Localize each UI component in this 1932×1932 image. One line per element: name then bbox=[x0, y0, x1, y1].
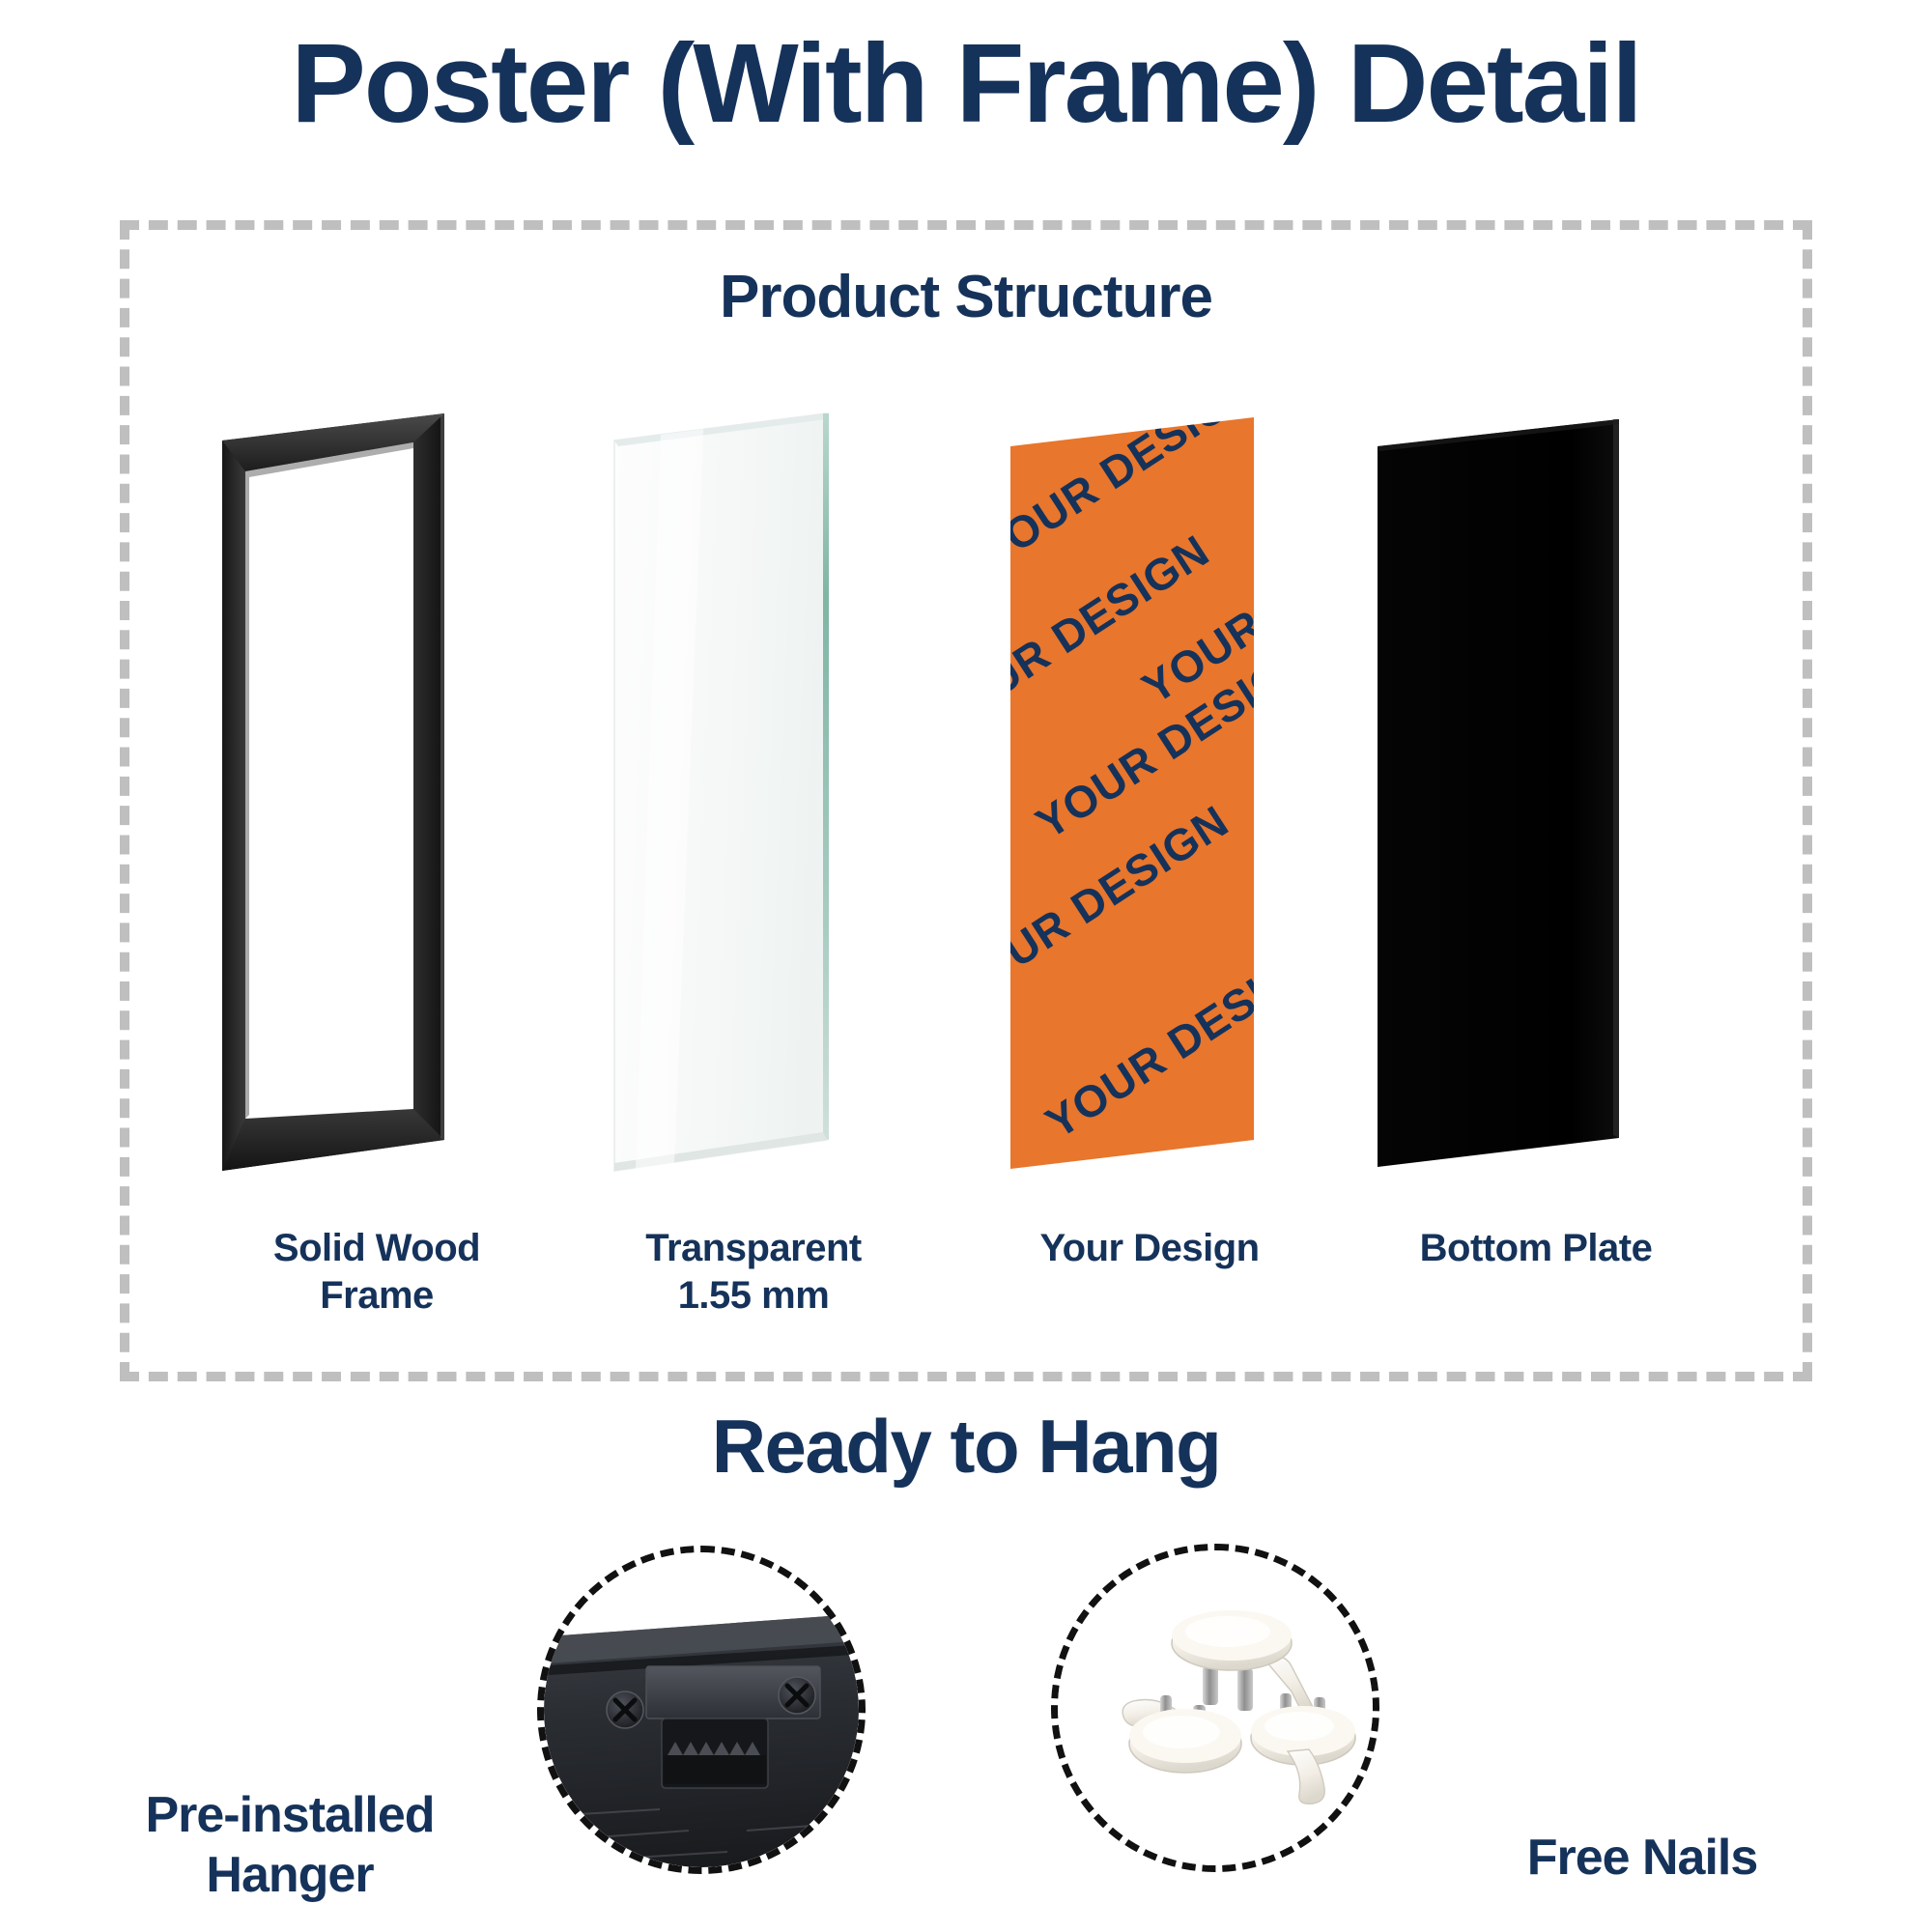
caption-line: Pre-installed bbox=[58, 1785, 522, 1845]
caption-line: Solid Wood bbox=[193, 1225, 560, 1272]
bottom-plate-illustration bbox=[1366, 406, 1752, 1179]
free-nails-photo bbox=[1051, 1544, 1379, 1872]
caption-line: Your Design bbox=[966, 1225, 1333, 1272]
caption-pre-installed-hanger: Pre-installed Hanger bbox=[58, 1785, 522, 1906]
caption-line: 1.55 mm bbox=[570, 1272, 937, 1320]
panel-bottom-plate bbox=[1366, 406, 1752, 1179]
caption-line: Hanger bbox=[58, 1845, 522, 1905]
nails-photo-inner bbox=[1058, 1550, 1373, 1865]
pre-installed-hanger-photo bbox=[537, 1546, 866, 1874]
your-design-illustration: YOUR DESIGN YOUR DESIGN YOUR DESIGN YOUR… bbox=[1001, 406, 1387, 1179]
hanger-bracket-illustration bbox=[544, 1552, 859, 1867]
hanger-photo-inner bbox=[544, 1552, 859, 1867]
caption-line: Bottom Plate bbox=[1333, 1225, 1739, 1272]
caption-solid-wood-frame: Solid Wood Frame bbox=[193, 1225, 560, 1320]
caption-your-design: Your Design bbox=[966, 1225, 1333, 1272]
panel-your-design: YOUR DESIGN YOUR DESIGN YOUR DESIGN YOUR… bbox=[1001, 406, 1387, 1179]
wall-hooks-illustration bbox=[1058, 1550, 1373, 1865]
screw-right bbox=[779, 1677, 815, 1714]
caption-line: Transparent bbox=[570, 1225, 937, 1272]
transparent-sheet-illustration bbox=[603, 406, 989, 1179]
solid-wood-frame-illustration bbox=[205, 406, 591, 1179]
panel-solid-wood-frame bbox=[205, 406, 591, 1179]
screw-left bbox=[607, 1691, 643, 1728]
caption-bottom-plate: Bottom Plate bbox=[1333, 1225, 1739, 1272]
ready-to-hang-heading: Ready to Hang bbox=[0, 1403, 1932, 1491]
caption-line: Frame bbox=[193, 1272, 560, 1320]
caption-transparent-sheet: Transparent 1.55 mm bbox=[570, 1225, 937, 1320]
exploded-view-row: YOUR DESIGN YOUR DESIGN YOUR DESIGN YOUR… bbox=[120, 406, 1812, 1179]
panel-transparent-sheet bbox=[603, 406, 989, 1179]
product-structure-heading: Product Structure bbox=[120, 263, 1812, 331]
caption-free-nails: Free Nails bbox=[1410, 1828, 1874, 1888]
caption-line: Free Nails bbox=[1410, 1828, 1874, 1888]
page-title: Poster (With Frame) Detail bbox=[0, 27, 1932, 139]
